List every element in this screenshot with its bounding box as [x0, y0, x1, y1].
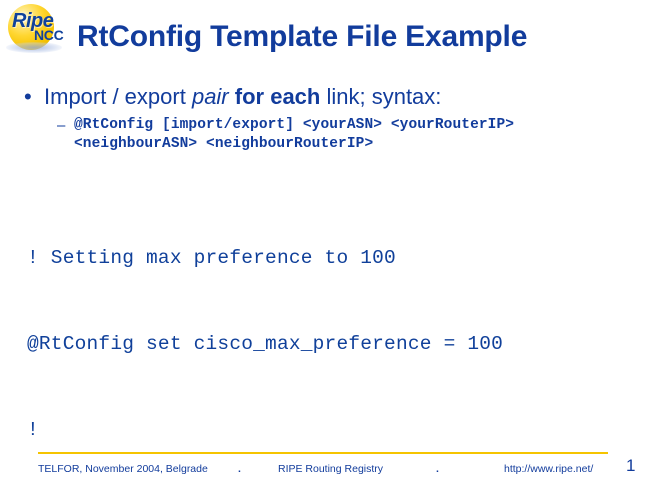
bullet-part-4: link; syntax:	[320, 84, 441, 109]
code-line: @RtConfig set cisco_max_preference = 100	[27, 330, 586, 359]
bullet-item-sub-label: @RtConfig [import/export] <yourASN> <you…	[74, 116, 514, 154]
code-line: !	[27, 416, 586, 445]
presentation-slide: Ripe NCC RtConfig Template File Example …	[0, 0, 650, 488]
bullet-part-0: Import / export	[44, 84, 192, 109]
code-line: ! Setting max preference to 100	[27, 244, 586, 273]
bullet-list: • Import / export pair for each link; sy…	[24, 83, 644, 154]
footer-separator-2: .	[436, 461, 439, 477]
footer-separator-1: .	[238, 461, 241, 477]
slide-title: RtConfig Template File Example	[77, 20, 527, 54]
logo-submark: NCC	[34, 27, 63, 43]
sub-bullet-marker-icon: –	[57, 116, 74, 135]
slide-footer: TELFOR, November 2004, Belgrade . RIPE R…	[38, 461, 610, 477]
ripe-ncc-logo: Ripe NCC	[2, 1, 74, 55]
bullet-part-1-italic: pair	[192, 84, 229, 109]
footer-topic: RIPE Routing Registry	[278, 461, 383, 477]
bullet-item-main: • Import / export pair for each link; sy…	[24, 83, 644, 111]
logo-shadow	[6, 42, 62, 53]
bullet-item-sub: – @RtConfig [import/export] <yourASN> <y…	[24, 116, 644, 154]
footer-event: TELFOR, November 2004, Belgrade	[38, 461, 208, 477]
bullet-part-3-bold: for each	[235, 84, 321, 109]
page-number: 1	[626, 455, 635, 477]
bullet-item-main-label: Import / export pair for each link; synt…	[44, 83, 441, 111]
footer-url[interactable]: http://www.ripe.net/	[504, 461, 593, 477]
bullet-marker-icon: •	[24, 83, 44, 111]
footer-divider	[38, 452, 608, 454]
code-block: ! Setting max preference to 100 @RtConfi…	[27, 187, 586, 488]
